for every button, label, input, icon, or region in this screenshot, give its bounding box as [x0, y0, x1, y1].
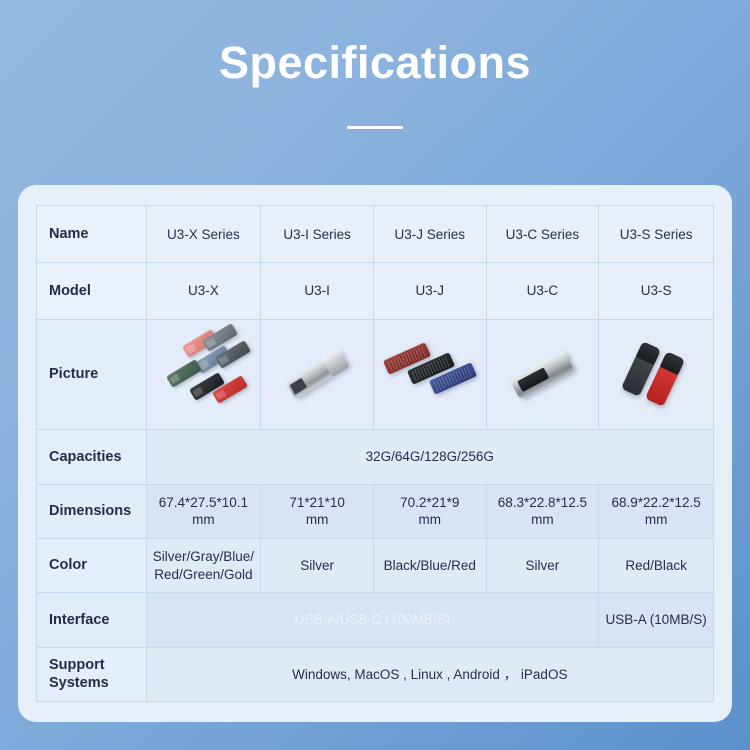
cell-picture-u3i — [261, 319, 374, 430]
u3j-drives-image — [374, 323, 486, 427]
title-block: Specifications — [0, 0, 750, 129]
cell-model-u3c: U3-C — [486, 263, 599, 319]
support-label-line-2: Systems — [49, 675, 109, 691]
dimensions-unit: mm — [192, 512, 215, 527]
cell-picture-u3x — [146, 319, 261, 430]
dimensions-value: 71*21*10 — [289, 495, 345, 510]
u3i-silver-stick — [286, 350, 349, 399]
dimensions-value: 68.9*22.2*12.5 — [611, 495, 700, 510]
cell-model-u3s: U3-S — [599, 263, 714, 319]
cell-dimensions-u3c: 68.3*22.8*12.5 mm — [486, 484, 599, 538]
color-line-2: Red/Green/Gold — [154, 567, 252, 582]
table-row-capacities: Capacities 32G/64G/128G/256G — [37, 430, 714, 484]
row-label-support-systems: Support Systems — [37, 647, 147, 701]
row-label-name: Name — [37, 206, 147, 263]
row-label-capacities: Capacities — [37, 430, 147, 484]
u3x-drives-image — [147, 323, 261, 427]
u3i-drive-image — [261, 323, 373, 427]
table-row-model: Model U3-X U3-I U3-J U3-C U3-S — [37, 263, 714, 319]
cell-capacities-merged: 32G/64G/128G/256G — [146, 430, 713, 484]
cell-name-u3j: U3-J Series — [373, 206, 486, 263]
u3s-drives-image — [599, 323, 713, 427]
cell-model-u3x: U3-X — [146, 263, 261, 319]
u3c-silver-stick — [510, 350, 575, 399]
row-label-model: Model — [37, 263, 147, 319]
dimensions-unit: mm — [531, 512, 554, 527]
cell-name-u3i: U3-I Series — [261, 206, 374, 263]
cell-model-u3i: U3-I — [261, 263, 374, 319]
table-row-color: Color Silver/Gray/Blue/ Red/Green/Gold S… — [37, 538, 714, 592]
usb-plug — [290, 377, 308, 394]
row-label-picture: Picture — [37, 319, 147, 430]
cell-picture-u3c — [486, 319, 599, 430]
cell-picture-u3j — [373, 319, 486, 430]
dimensions-unit: mm — [419, 512, 442, 527]
dimensions-value: 70.2*21*9 — [400, 495, 459, 510]
row-label-interface: Interface — [37, 593, 147, 647]
table-row-picture: Picture — [37, 319, 714, 430]
dimensions-value: 67.4*27.5*10.1 — [159, 495, 248, 510]
cell-picture-u3s — [599, 319, 714, 430]
cell-color-u3i: Silver — [261, 538, 374, 592]
specifications-card: Name U3-X Series U3-I Series U3-J Series… — [18, 185, 732, 722]
u3c-drive-image — [487, 323, 599, 427]
row-label-color: Color — [37, 538, 147, 592]
cell-color-u3x: Silver/Gray/Blue/ Red/Green/Gold — [146, 538, 261, 592]
cell-interface-merged: USB-A/USB-C (100MB/S) — [146, 593, 599, 647]
cell-support-systems-merged: Windows, MacOS , Linux , Android ， iPadO… — [146, 647, 713, 701]
color-line-1: Silver/Gray/Blue/ — [153, 549, 254, 564]
dimensions-unit: mm — [306, 512, 329, 527]
table-row-support-systems: Support Systems Windows, MacOS , Linux ,… — [37, 647, 714, 701]
dimensions-unit: mm — [645, 512, 668, 527]
cell-name-u3x: U3-X Series — [146, 206, 261, 263]
usb-cap — [322, 348, 350, 376]
cell-color-u3j: Black/Blue/Red — [373, 538, 486, 592]
dimensions-value: 68.3*22.8*12.5 — [498, 495, 587, 510]
cell-dimensions-u3x: 67.4*27.5*10.1 mm — [146, 484, 261, 538]
black-panel — [518, 367, 550, 392]
page-title: Specifications — [0, 38, 750, 88]
support-label-line-1: Support — [49, 657, 105, 673]
cell-interface-u3s: USB-A (10MB/S) — [599, 593, 714, 647]
row-label-dimensions: Dimensions — [37, 484, 147, 538]
title-divider — [347, 126, 403, 129]
cell-name-u3s: U3-S Series — [599, 206, 714, 263]
cell-dimensions-u3s: 68.9*22.2*12.5 mm — [599, 484, 714, 538]
cell-name-u3c: U3-C Series — [486, 206, 599, 263]
specifications-table: Name U3-X Series U3-I Series U3-J Series… — [36, 205, 714, 702]
cell-dimensions-u3j: 70.2*21*9 mm — [373, 484, 486, 538]
table-row-interface: Interface USB-A/USB-C (100MB/S) USB-A (1… — [37, 593, 714, 647]
cell-model-u3j: U3-J — [373, 263, 486, 319]
table-row-name: Name U3-X Series U3-I Series U3-J Series… — [37, 206, 714, 263]
table-row-dimensions: Dimensions 67.4*27.5*10.1 mm 71*21*10 mm… — [37, 484, 714, 538]
cell-dimensions-u3i: 71*21*10 mm — [261, 484, 374, 538]
cell-color-u3s: Red/Black — [599, 538, 714, 592]
cell-color-u3c: Silver — [486, 538, 599, 592]
